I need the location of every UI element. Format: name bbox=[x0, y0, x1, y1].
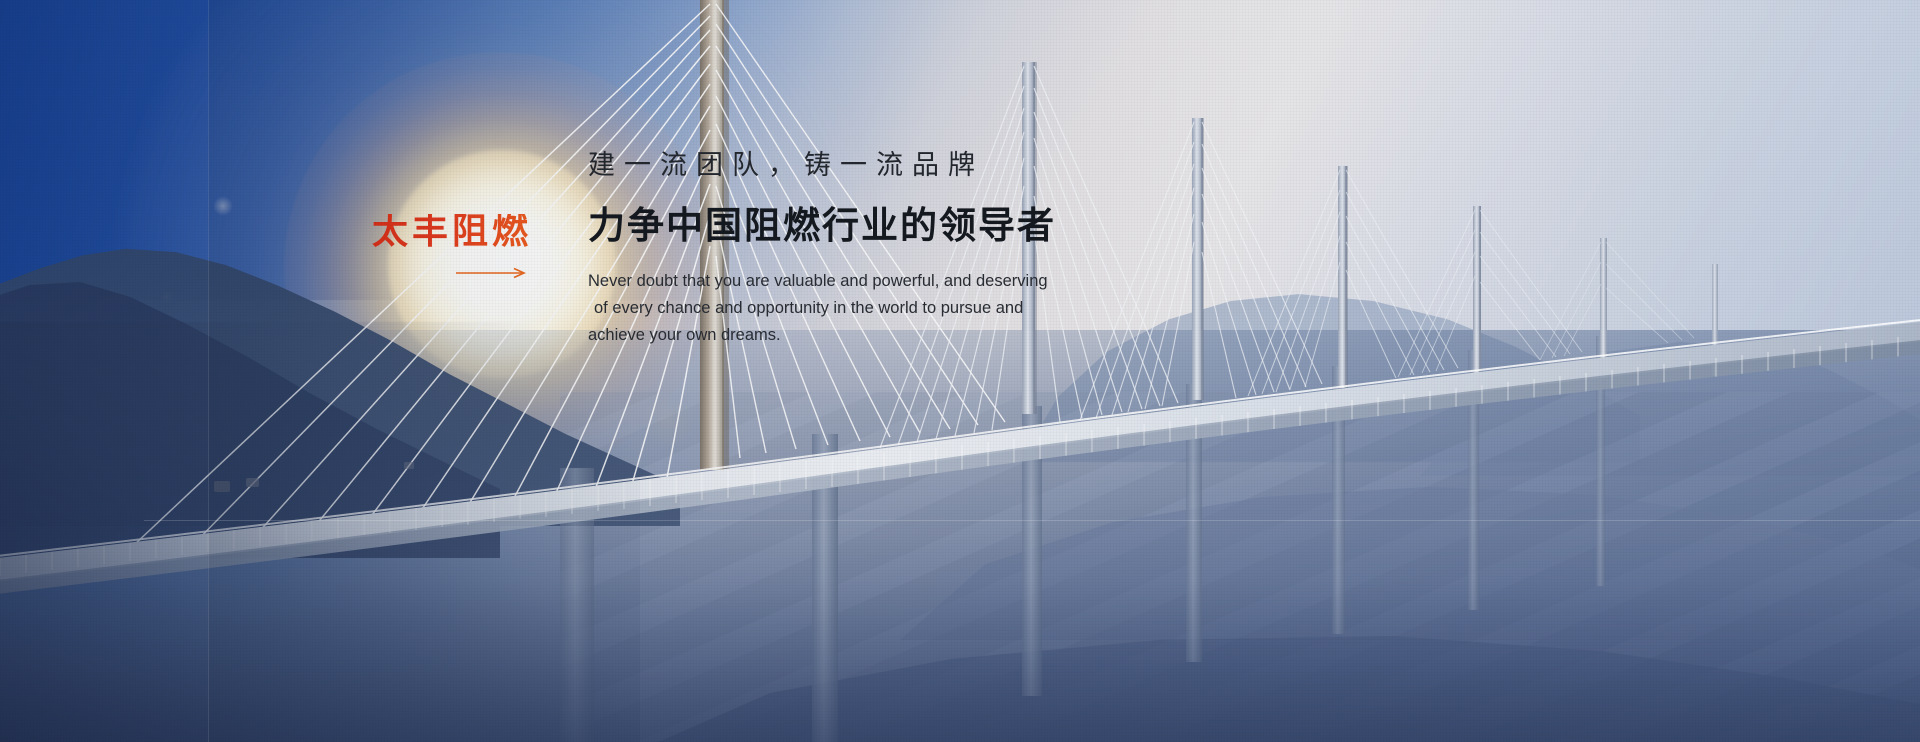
headline-subtitle: 建一流团队，铸一流品牌 bbox=[588, 152, 1108, 179]
hero-banner: 太丰阻燃 建一流团队，铸一流品牌 力争中国阻燃行业的领导者 Never doub… bbox=[0, 0, 1920, 742]
page-title: 力争中国阻燃行业的领导者 bbox=[588, 207, 1108, 244]
banner-text-block: 建一流团队，铸一流品牌 力争中国阻燃行业的领导者 Never doubt tha… bbox=[588, 152, 1108, 349]
paragraph-line-3: achieve your own dreams. bbox=[588, 322, 1048, 349]
banner-paragraph: Never doubt that you are valuable and po… bbox=[588, 268, 1048, 349]
paragraph-line-1: Never doubt that you are valuable and po… bbox=[588, 268, 1048, 295]
banner-content: 太丰阻燃 建一流团队，铸一流品牌 力争中国阻燃行业的领导者 Never doub… bbox=[0, 0, 1920, 742]
arrow-right-icon bbox=[456, 266, 528, 278]
paragraph-line-2: of every chance and opportunity in the w… bbox=[588, 295, 1048, 322]
brand-logo[interactable]: 太丰阻燃 bbox=[372, 214, 552, 250]
brand-name: 太丰阻燃 bbox=[372, 214, 552, 250]
